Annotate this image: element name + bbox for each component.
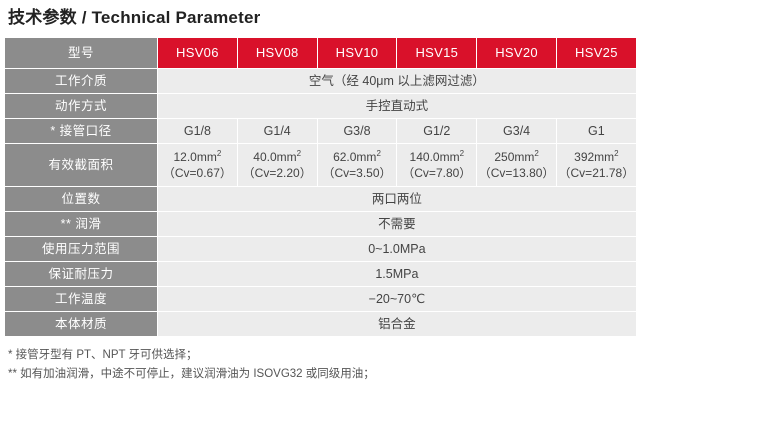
header-cell-hsv08: HSV08 xyxy=(238,38,317,68)
table-row: 工作介质 空气（经 40μm 以上滤网过滤） xyxy=(5,69,636,93)
row-label: 有效截面积 xyxy=(5,144,157,186)
row-label: 保证耐压力 xyxy=(5,262,157,286)
area-value: 40.0mm xyxy=(253,150,296,164)
table-row: 工作温度 −20~70℃ xyxy=(5,287,636,311)
table-row: 位置数 两口两位 xyxy=(5,187,636,211)
area-value: 250mm xyxy=(494,150,534,164)
area-value: 140.0mm xyxy=(410,150,460,164)
row-value: 两口两位 xyxy=(158,187,636,211)
technical-parameter-page: 技术参数 / Technical Parameter 型号 HSV06 HSV0… xyxy=(0,0,760,448)
header-cell-hsv20: HSV20 xyxy=(477,38,556,68)
row-label: 工作介质 xyxy=(5,69,157,93)
row-value-cell: 62.0mm2 （Cv=3.50） xyxy=(318,144,397,186)
row-value-cell: G1/2 xyxy=(397,119,476,143)
table-row: 使用压力范围 0~1.0MPa xyxy=(5,237,636,261)
header-cell-hsv25: HSV25 xyxy=(557,38,636,68)
cv-value: （Cv=3.50） xyxy=(318,165,397,181)
page-title: 技术参数 / Technical Parameter xyxy=(4,0,756,30)
table-header-row: 型号 HSV06 HSV08 HSV10 HSV15 HSV20 HSV25 xyxy=(5,38,636,68)
row-label: * 接管口径 xyxy=(5,119,157,143)
cv-value: （Cv=21.78） xyxy=(557,165,636,181)
header-cell-hsv15: HSV15 xyxy=(397,38,476,68)
row-label: 使用压力范围 xyxy=(5,237,157,261)
row-label: 动作方式 xyxy=(5,94,157,118)
row-value-cell: G3/8 xyxy=(318,119,397,143)
header-cell-hsv10: HSV10 xyxy=(318,38,397,68)
cv-value: （Cv=13.80） xyxy=(477,165,556,181)
row-value: 不需要 xyxy=(158,212,636,236)
row-value-cell: G1 xyxy=(557,119,636,143)
area-unit-exponent: 2 xyxy=(376,149,380,158)
footnote-single-asterisk: * 接管牙型有 PT、NPT 牙可供选择； xyxy=(8,346,756,365)
row-value-cell: 40.0mm2 （Cv=2.20） xyxy=(238,144,317,186)
table-row: 动作方式 手控直动式 xyxy=(5,94,636,118)
row-label: ** 润滑 xyxy=(5,212,157,236)
row-value: 0~1.0MPa xyxy=(158,237,636,261)
cv-value: （Cv=0.67） xyxy=(158,165,237,181)
row-value: 空气（经 40μm 以上滤网过滤） xyxy=(158,69,636,93)
row-label: 工作温度 xyxy=(5,287,157,311)
row-value-cell: G1/8 xyxy=(158,119,237,143)
footnotes: * 接管牙型有 PT、NPT 牙可供选择； ** 如有加油润滑，中途不可停止，建… xyxy=(8,346,756,384)
row-value: −20~70℃ xyxy=(158,287,636,311)
area-unit-exponent: 2 xyxy=(534,149,538,158)
row-value: 铝合金 xyxy=(158,312,636,336)
area-unit-exponent: 2 xyxy=(460,149,464,158)
table-row: 有效截面积 12.0mm2 （Cv=0.67） 40.0mm2 （Cv=2.20… xyxy=(5,144,636,186)
technical-parameter-table: 型号 HSV06 HSV08 HSV10 HSV15 HSV20 HSV25 工… xyxy=(4,37,637,337)
area-value: 62.0mm xyxy=(333,150,376,164)
row-value-cell: G1/4 xyxy=(238,119,317,143)
cv-value: （Cv=2.20） xyxy=(238,165,317,181)
area-unit-exponent: 2 xyxy=(614,149,618,158)
area-value: 12.0mm xyxy=(173,150,216,164)
header-cell-model: 型号 xyxy=(5,38,157,68)
row-label: 本体材质 xyxy=(5,312,157,336)
row-value-cell: G3/4 xyxy=(477,119,556,143)
header-cell-hsv06: HSV06 xyxy=(158,38,237,68)
row-value: 手控直动式 xyxy=(158,94,636,118)
area-unit-exponent: 2 xyxy=(297,149,301,158)
cv-value: （Cv=7.80） xyxy=(397,165,476,181)
table-row: 本体材质 铝合金 xyxy=(5,312,636,336)
area-unit-exponent: 2 xyxy=(217,149,221,158)
row-value-cell: 140.0mm2 （Cv=7.80） xyxy=(397,144,476,186)
row-value-cell: 392mm2 （Cv=21.78） xyxy=(557,144,636,186)
row-value-cell: 12.0mm2 （Cv=0.67） xyxy=(158,144,237,186)
table-row: 保证耐压力 1.5MPa xyxy=(5,262,636,286)
row-value: 1.5MPa xyxy=(158,262,636,286)
footnote-double-asterisk: ** 如有加油润滑，中途不可停止，建议润滑油为 ISOVG32 或同级用油； xyxy=(8,365,756,384)
table-row: ** 润滑 不需要 xyxy=(5,212,636,236)
row-label: 位置数 xyxy=(5,187,157,211)
table-row: * 接管口径 G1/8 G1/4 G3/8 G1/2 G3/4 G1 xyxy=(5,119,636,143)
area-value: 392mm xyxy=(574,150,614,164)
row-value-cell: 250mm2 （Cv=13.80） xyxy=(477,144,556,186)
